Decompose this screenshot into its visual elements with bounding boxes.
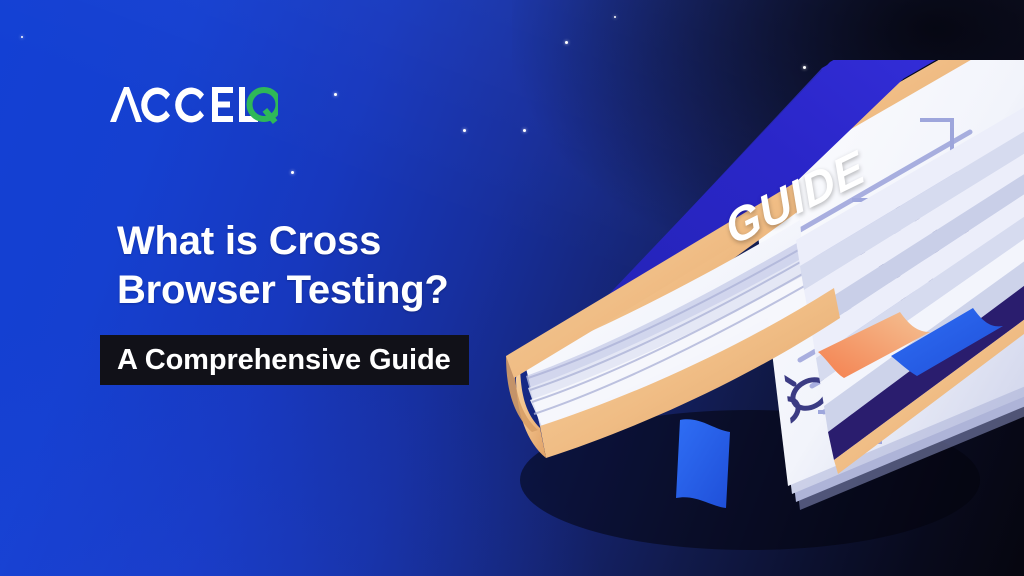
subtitle-text: A Comprehensive Guide — [117, 346, 451, 375]
background-star — [334, 93, 337, 96]
bookmark-blue-bottom — [676, 419, 730, 508]
background-star — [463, 129, 466, 132]
background-star — [565, 41, 568, 44]
open-book-illustration — [500, 60, 1024, 576]
accelq-logo-mark — [108, 82, 278, 130]
hero-banner: What is Cross Browser Testing? A Compreh… — [0, 0, 1024, 576]
accelq-logo[interactable] — [108, 82, 278, 130]
subtitle-banner: A Comprehensive Guide — [100, 335, 469, 385]
background-star — [614, 16, 616, 18]
background-star — [21, 36, 23, 38]
background-star — [291, 171, 294, 174]
